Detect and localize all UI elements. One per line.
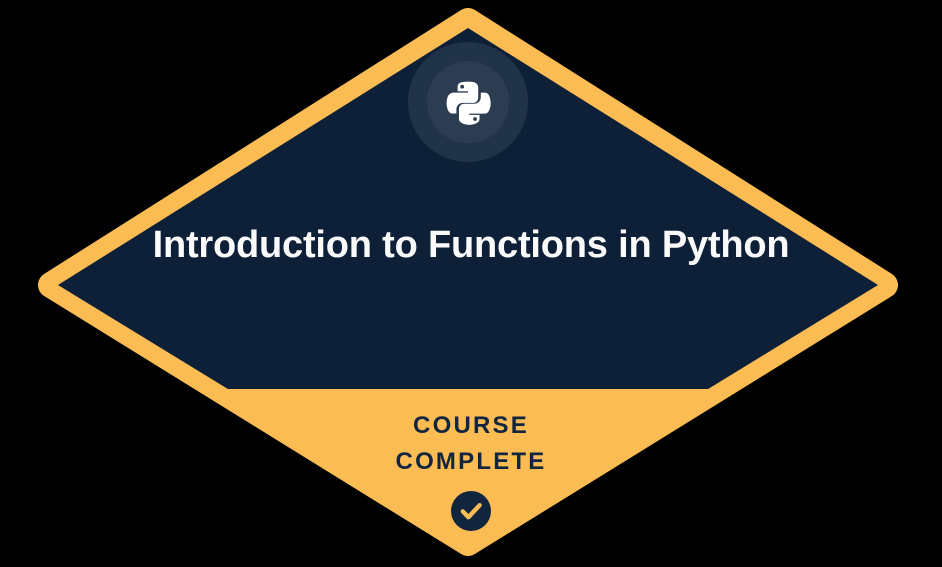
status-line-1: COURSE <box>171 408 771 444</box>
python-logo-icon <box>445 79 491 125</box>
python-emblem <box>408 42 528 162</box>
completion-status: COURSE COMPLETE <box>171 408 771 531</box>
check-circle-icon <box>451 491 491 531</box>
course-title: Introduction to Functions in Python <box>141 222 801 268</box>
badge-canvas: Introduction to Functions in Python COUR… <box>0 0 942 567</box>
status-line-2: COMPLETE <box>171 444 771 480</box>
